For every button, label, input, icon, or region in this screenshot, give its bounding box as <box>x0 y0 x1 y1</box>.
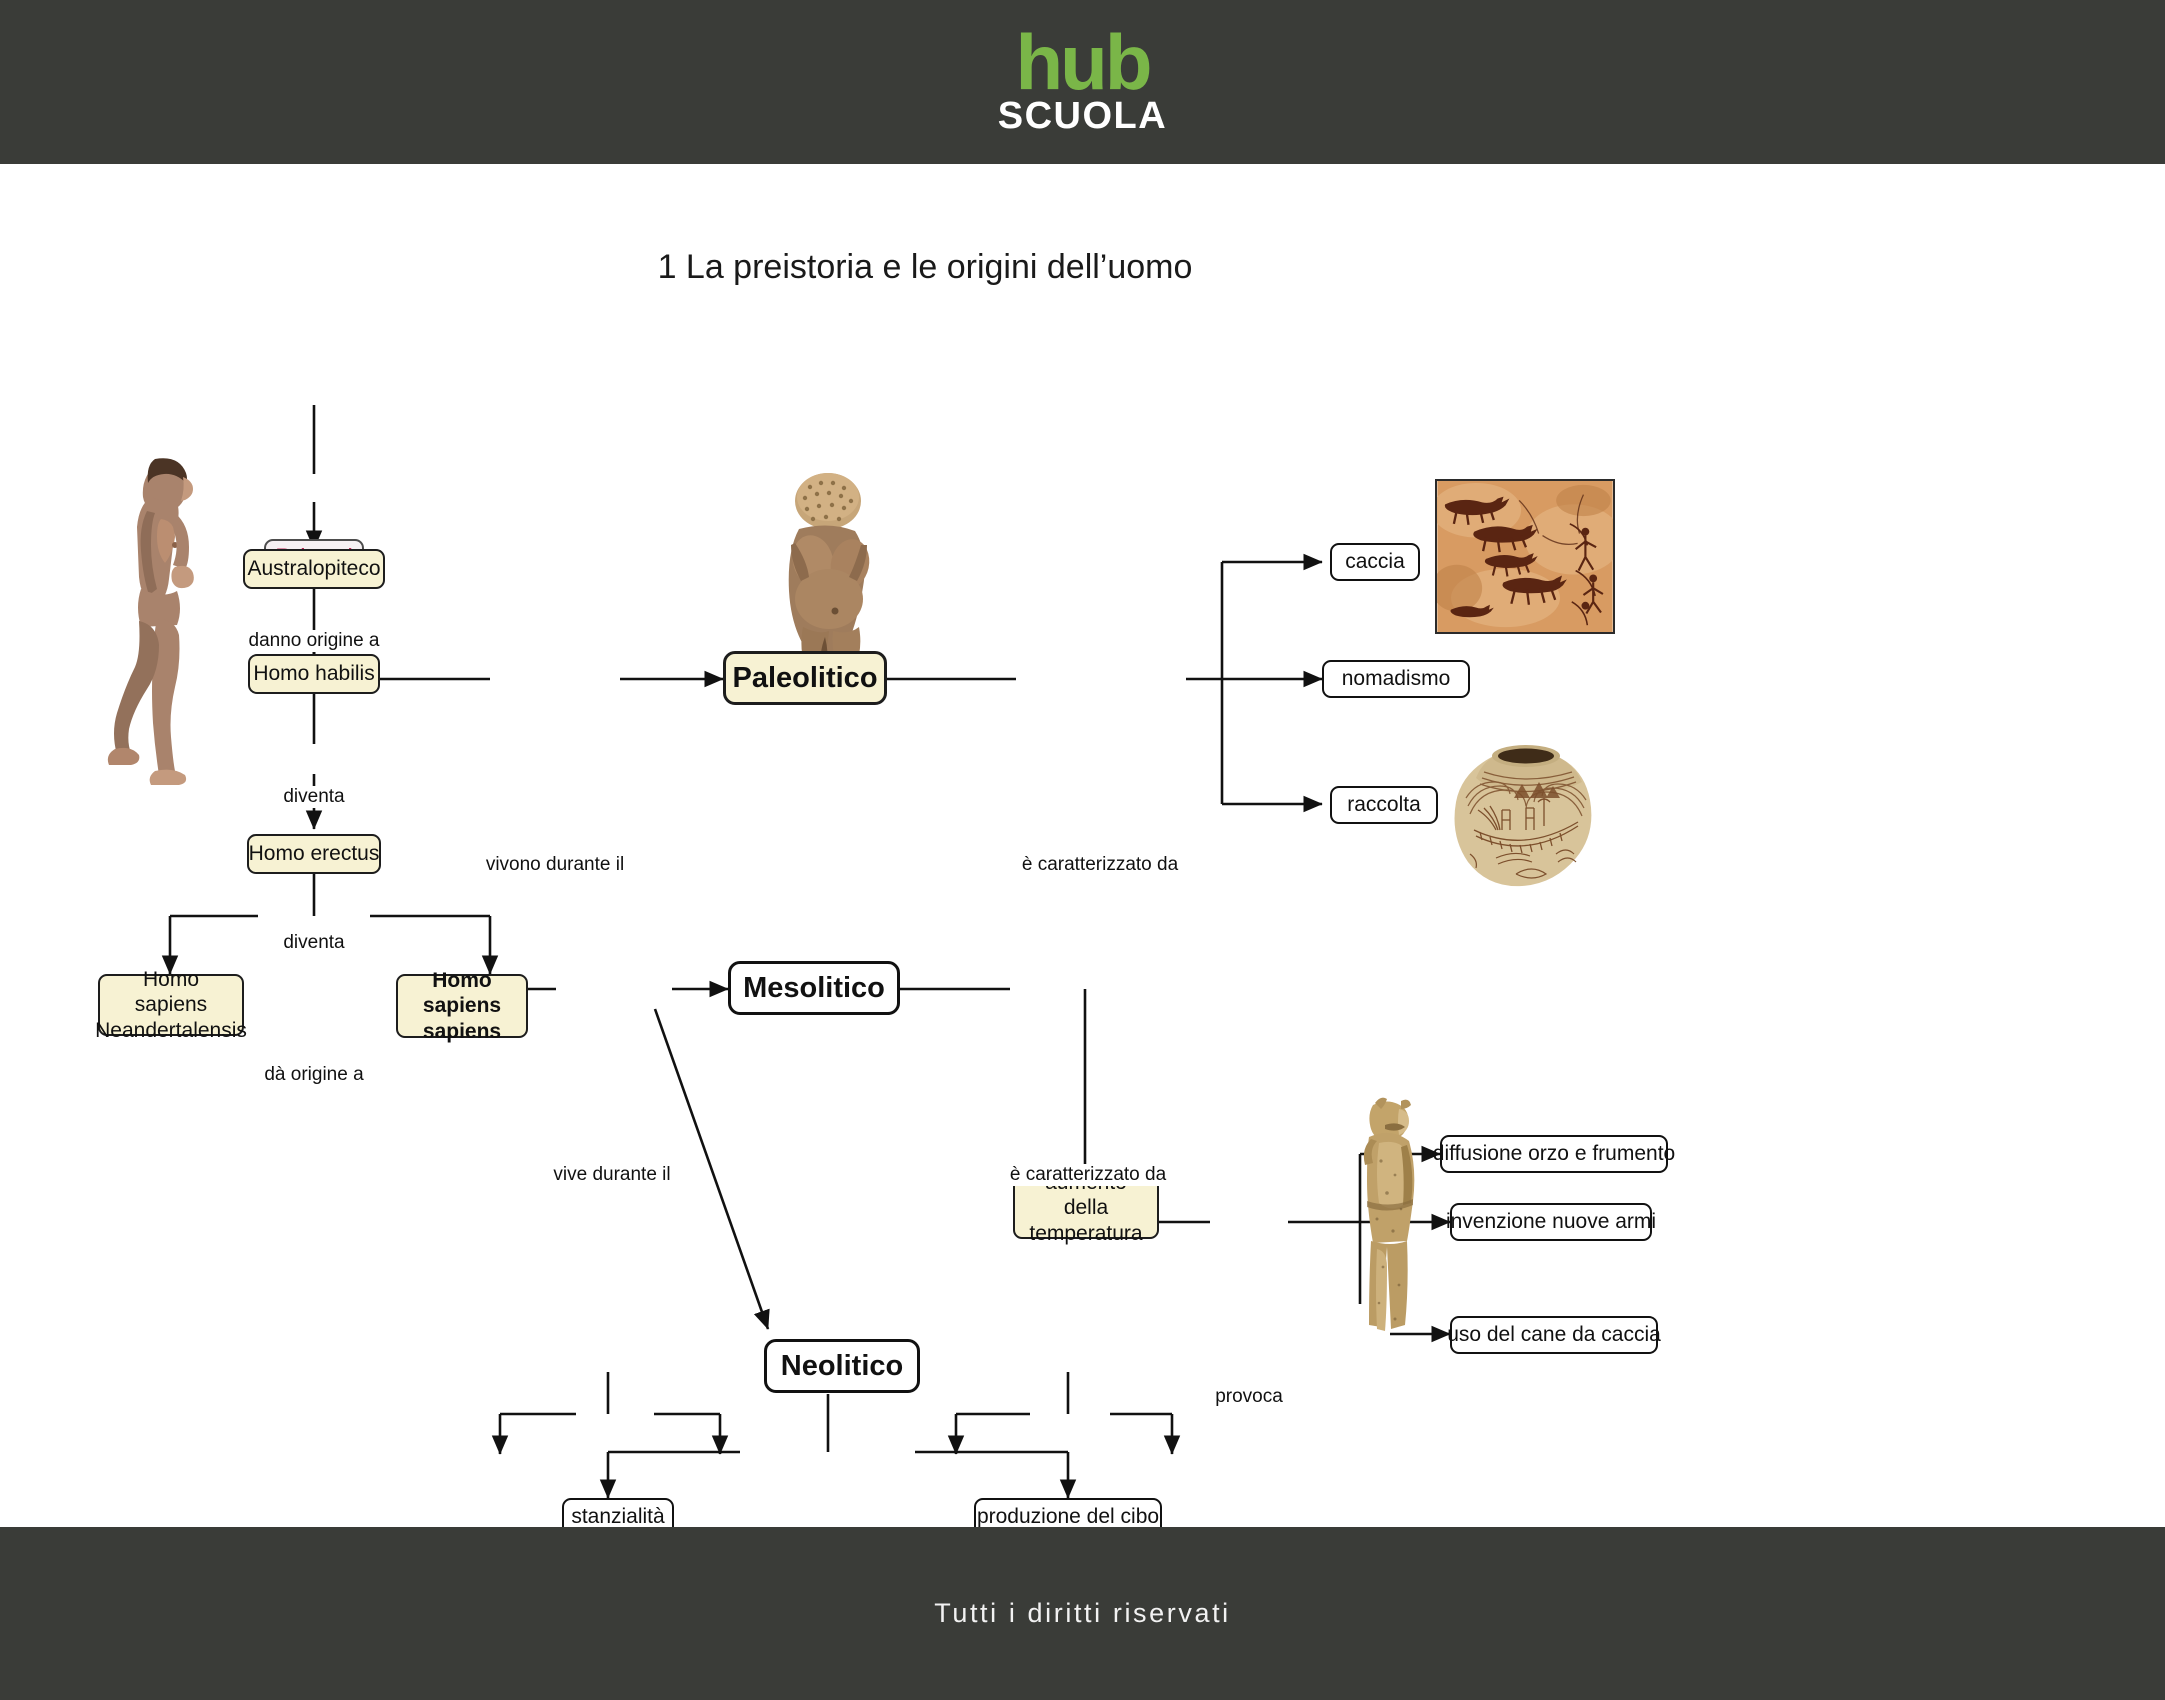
decorated-pottery-vase-photo <box>1440 736 1610 894</box>
edge-label-diventa-1: diventa <box>277 786 350 808</box>
venus-figurine-photo <box>755 469 905 669</box>
ivory-lion-man-figurine-photo <box>1355 1089 1425 1344</box>
node-diffusione-orzo-frumento[interactable]: diffusione orzo e frumento <box>1440 1135 1668 1173</box>
node-homo-sapiens-neandertalensis[interactable]: Homo sapiens Neandertalensis <box>98 974 244 1036</box>
node-nomadismo[interactable]: nomadismo <box>1322 660 1470 698</box>
node-aumento-temperatura[interactable]: aumento della temperatura <box>1013 1177 1159 1239</box>
header-bar: hub SCUOLA <box>0 0 2165 164</box>
cave-painting-photo <box>1435 479 1615 634</box>
node-line-1: Homo sapiens <box>108 967 234 1018</box>
node-homo-sapiens-sapiens[interactable]: Homo sapiens sapiens <box>396 974 528 1038</box>
node-line-2: temperatura <box>1029 1221 1142 1247</box>
edge-label-caratterizzato-mesolitico: è caratterizzato da <box>1004 1164 1172 1186</box>
edge-label-provoca: provoca <box>1209 1386 1289 1408</box>
edge-label-da-origine-a: dà origine a <box>258 1064 369 1086</box>
logo-scuola-text: SCUOLA <box>998 97 1167 135</box>
footer-bar: Tutti i diritti riservati <box>0 1527 2165 1700</box>
early-hominid-illustration <box>95 449 225 794</box>
node-homo-erectus[interactable]: Homo erectus <box>247 834 381 874</box>
slide-page: hub SCUOLA 1 La preistoria e le origini … <box>0 0 2165 1700</box>
footer-copyright-text: Tutti i diritti riservati <box>0 1527 2165 1700</box>
edge-label-danno-origine-a: danno origine a <box>243 630 386 652</box>
edge-label-caratterizzato-paleolitico: è caratterizzato da <box>1016 854 1184 876</box>
node-mesolitico[interactable]: Mesolitico <box>728 961 900 1015</box>
node-caccia[interactable]: caccia <box>1330 543 1420 581</box>
node-raccolta[interactable]: raccolta <box>1330 786 1438 824</box>
node-neolitico[interactable]: Neolitico <box>764 1339 920 1393</box>
edge-label-vivono-durante-il: vivono durante il <box>480 854 630 876</box>
node-homo-habilis[interactable]: Homo habilis <box>248 654 380 694</box>
node-uso-cane-da-caccia[interactable]: uso del cane da caccia <box>1450 1316 1658 1354</box>
node-line-2: sapiens <box>423 1019 501 1045</box>
edge-label-diventa-2: diventa <box>277 932 350 954</box>
node-line-1: Homo sapiens <box>406 968 518 1019</box>
edge-label-vive-durante-il: vive durante il <box>547 1164 676 1186</box>
logo-hub-text: hub <box>1016 29 1150 95</box>
concept-map-canvas: Primati Australopiteco Homo habilis Homo… <box>0 164 2165 1527</box>
node-australopiteco[interactable]: Australopiteco <box>243 549 385 589</box>
node-invenzione-nuove-armi[interactable]: invenzione nuove armi <box>1450 1203 1652 1241</box>
hub-scuola-logo[interactable]: hub SCUOLA <box>0 0 2165 164</box>
node-line-2: Neandertalensis <box>95 1018 247 1044</box>
node-paleolitico[interactable]: Paleolitico <box>723 651 887 705</box>
